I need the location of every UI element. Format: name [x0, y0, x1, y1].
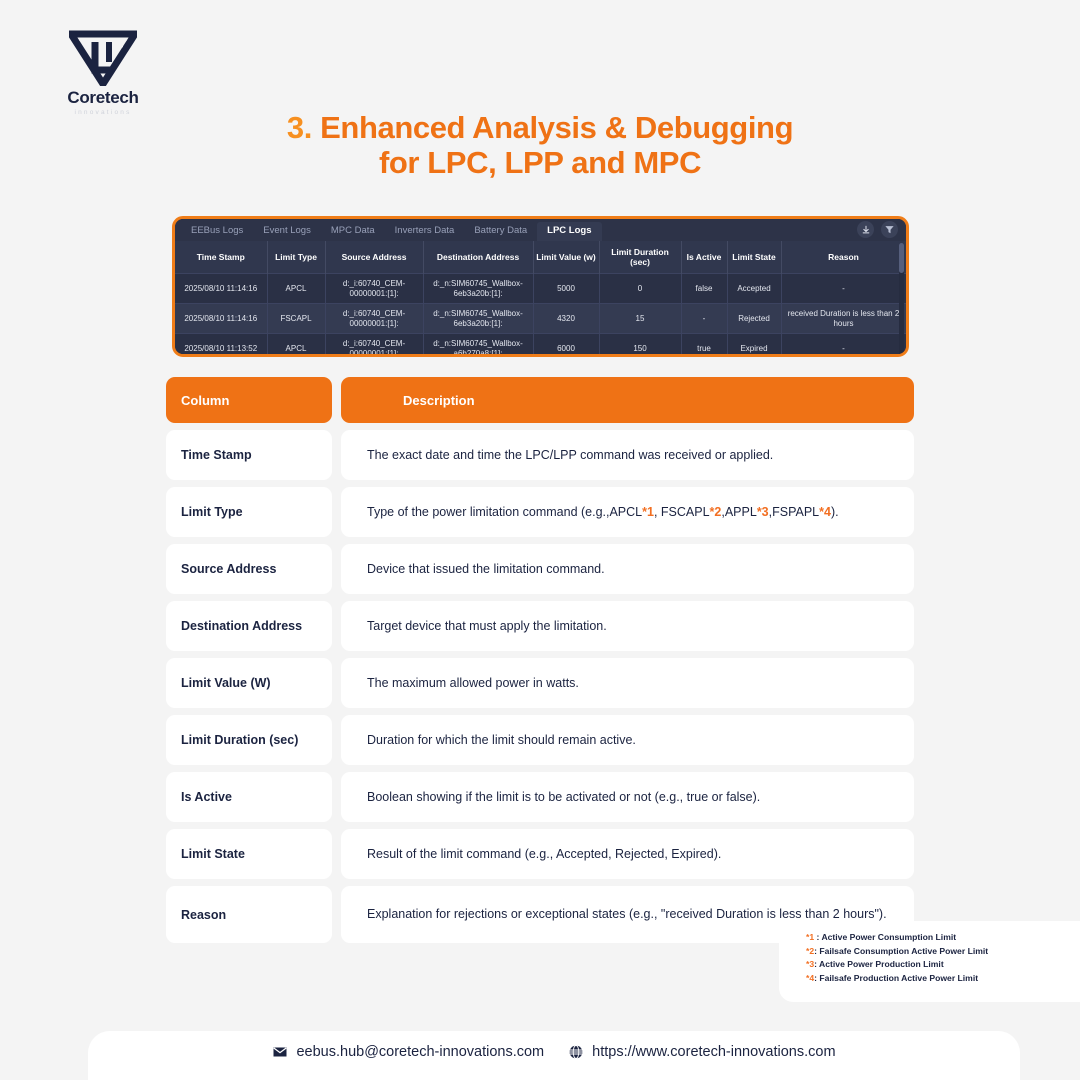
legend-column-name: Time Stamp: [166, 430, 332, 480]
cell-destination: d:_n:SIM60745_Wallbox-a6b270a8:[1]:: [423, 334, 533, 358]
cell-reason: -: [781, 274, 906, 304]
title-line-2: for LPC, LPP and MPC: [0, 145, 1080, 180]
tab-bar: EEBus LogsEvent LogsMPC DataInverters Da…: [175, 219, 906, 241]
legend-column-description: Type of the power limitation command (e.…: [341, 487, 914, 537]
brand-name: Coretech: [57, 88, 149, 108]
legend-column-name: Source Address: [166, 544, 332, 594]
column-header[interactable]: Limit State: [727, 241, 781, 274]
table-row[interactable]: 2025/08/10 11:13:52APCLd:_i:60740_CEM-00…: [175, 334, 906, 358]
legend-header-description: Description: [341, 377, 914, 423]
legend-column-name: Limit Duration (sec): [166, 715, 332, 765]
cell-is-active: false: [681, 274, 727, 304]
footer-website-text: https://www.coretech-innovations.com: [592, 1044, 835, 1060]
column-header[interactable]: Time Stamp: [175, 241, 267, 274]
coretech-logo-icon: [69, 30, 137, 86]
column-header[interactable]: Source Address: [325, 241, 423, 274]
cell-source: d:_i:60740_CEM-00000001:[1]:: [325, 334, 423, 358]
poster-page: Coretech innovations 3. Enhanced Analysi…: [0, 0, 1080, 1080]
legend-row: Limit TypeType of the power limitation c…: [166, 487, 914, 537]
tab-battery-data[interactable]: Battery Data: [464, 222, 537, 241]
cell-reason: -: [781, 334, 906, 358]
contact-footer: eebus.hub@coretech-innovations.com https…: [88, 1031, 1020, 1080]
legend-column-description: Boolean showing if the limit is to be ac…: [341, 772, 914, 822]
cell-limit-value: 6000: [533, 334, 599, 358]
column-header[interactable]: Destination Address: [423, 241, 533, 274]
email-icon: [272, 1044, 288, 1060]
cell-is-active: true: [681, 334, 727, 358]
table-body: 2025/08/10 11:14:16APCLd:_i:60740_CEM-00…: [175, 274, 906, 358]
legend-column-description: Duration for which the limit should rema…: [341, 715, 914, 765]
column-description-table: Column Description Time StampThe exact d…: [166, 377, 914, 950]
legend-column-description: Device that issued the limitation comman…: [341, 544, 914, 594]
tab-event-logs[interactable]: Event Logs: [253, 222, 321, 241]
legend-column-name: Limit State: [166, 829, 332, 879]
footnote-item: *4: Failsafe Production Active Power Lim…: [806, 972, 1080, 986]
legend-column-description: Target device that must apply the limita…: [341, 601, 914, 651]
column-header[interactable]: Limit Type: [267, 241, 325, 274]
tab-lpc-logs[interactable]: LPC Logs: [537, 222, 601, 241]
filter-icon[interactable]: [881, 221, 898, 238]
table-header-row: Time StampLimit TypeSource AddressDestin…: [175, 241, 906, 274]
footnote-item: *2: Failsafe Consumption Active Power Li…: [806, 945, 1080, 959]
legend-column-name: Is Active: [166, 772, 332, 822]
legend-header-column: Column: [166, 377, 332, 423]
footer-email[interactable]: eebus.hub@coretech-innovations.com: [272, 1044, 544, 1060]
table-row[interactable]: 2025/08/10 11:14:16FSCAPLd:_i:60740_CEM-…: [175, 304, 906, 334]
legend-column-name: Reason: [166, 886, 332, 943]
download-icon[interactable]: [857, 221, 874, 238]
tab-actions: [857, 221, 898, 238]
legend-row: Is ActiveBoolean showing if the limit is…: [166, 772, 914, 822]
footer-email-text: eebus.hub@coretech-innovations.com: [296, 1044, 544, 1060]
cell-time: 2025/08/10 11:14:16: [175, 274, 267, 304]
cell-duration: 150: [599, 334, 681, 358]
cell-reason: received Duration is less than 2 hours: [781, 304, 906, 334]
legend-column-name: Destination Address: [166, 601, 332, 651]
column-header[interactable]: Limit Value (w): [533, 241, 599, 274]
legend-column-name: Limit Value (W): [166, 658, 332, 708]
cell-limit-type: APCL: [267, 334, 325, 358]
legend-column-description: The exact date and time the LPC/LPP comm…: [341, 430, 914, 480]
legend-header-row: Column Description: [166, 377, 914, 423]
legend-column-name: Limit Type: [166, 487, 332, 537]
cell-limit-type: APCL: [267, 274, 325, 304]
table-row[interactable]: 2025/08/10 11:14:16APCLd:_i:60740_CEM-00…: [175, 274, 906, 304]
legend-row: Limit StateResult of the limit command (…: [166, 829, 914, 879]
cell-limit-type: FSCAPL: [267, 304, 325, 334]
legend-column-description: Result of the limit command (e.g., Accep…: [341, 829, 914, 879]
legend-row: Time StampThe exact date and time the LP…: [166, 430, 914, 480]
cell-destination: d:_n:SIM60745_Wallbox-6eb3a20b:[1]:: [423, 304, 533, 334]
cell-duration: 0: [599, 274, 681, 304]
cell-state: Accepted: [727, 274, 781, 304]
column-header[interactable]: Reason: [781, 241, 906, 274]
tab-eebus-logs[interactable]: EEBus Logs: [181, 222, 253, 241]
cell-duration: 15: [599, 304, 681, 334]
brand-logo: Coretech innovations: [57, 30, 149, 116]
footnote-item: *1 : Active Power Consumption Limit: [806, 931, 1080, 945]
tab-mpc-data[interactable]: MPC Data: [321, 222, 385, 241]
cell-destination: d:_n:SIM60745_Wallbox-6eb3a20b:[1]:: [423, 274, 533, 304]
cell-state: Rejected: [727, 304, 781, 334]
page-title: 3. Enhanced Analysis & Debugging for LPC…: [0, 110, 1080, 180]
footnote-item: *3: Active Power Production Limit: [806, 958, 1080, 972]
tab-inverters-data[interactable]: Inverters Data: [385, 222, 465, 241]
cell-state: Expired: [727, 334, 781, 358]
cell-time: 2025/08/10 11:13:52: [175, 334, 267, 358]
legend-row: Limit Value (W)The maximum allowed power…: [166, 658, 914, 708]
footnotes-card: *1 : Active Power Consumption Limit*2: F…: [779, 921, 1080, 1002]
legend-row: Limit Duration (sec)Duration for which t…: [166, 715, 914, 765]
column-header[interactable]: Limit Duration (sec): [599, 241, 681, 274]
vertical-scrollbar[interactable]: [899, 243, 904, 357]
globe-icon: [568, 1044, 584, 1060]
column-header[interactable]: Is Active: [681, 241, 727, 274]
title-number: 3.: [287, 110, 312, 145]
legend-row: Destination AddressTarget device that mu…: [166, 601, 914, 651]
cell-source: d:_i:60740_CEM-00000001:[1]:: [325, 274, 423, 304]
legend-column-description: The maximum allowed power in watts.: [341, 658, 914, 708]
cell-time: 2025/08/10 11:14:16: [175, 304, 267, 334]
cell-is-active: -: [681, 304, 727, 334]
legend-row: Source AddressDevice that issued the lim…: [166, 544, 914, 594]
title-line-1: Enhanced Analysis & Debugging: [320, 110, 793, 145]
cell-limit-value: 5000: [533, 274, 599, 304]
lpc-logs-table: Time StampLimit TypeSource AddressDestin…: [175, 241, 907, 357]
app-screenshot-panel: EEBus LogsEvent LogsMPC DataInverters Da…: [172, 216, 909, 357]
cell-limit-value: 4320: [533, 304, 599, 334]
footer-website[interactable]: https://www.coretech-innovations.com: [568, 1044, 835, 1060]
cell-source: d:_i:60740_CEM-00000001:[1]:: [325, 304, 423, 334]
